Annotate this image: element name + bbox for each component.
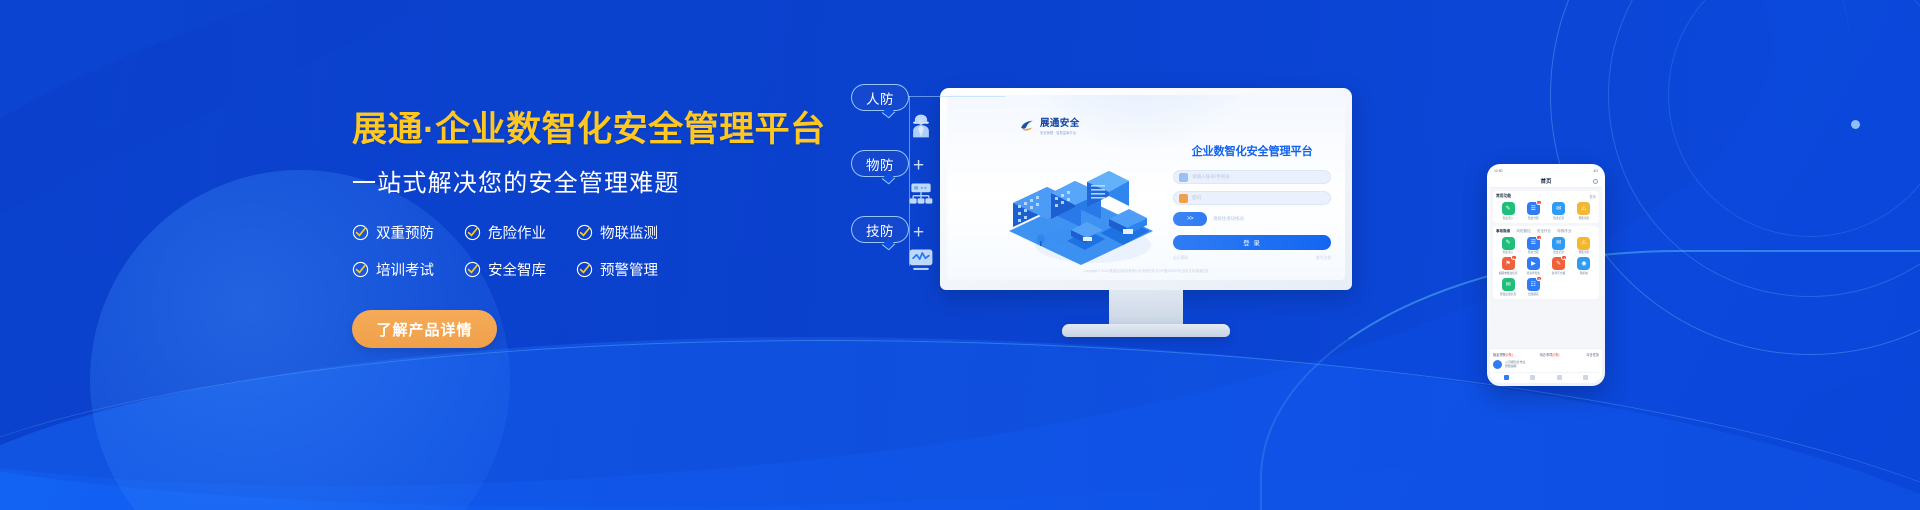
learn-more-button[interactable]: 了解产品详情 <box>352 310 497 348</box>
list-item-sub: 预警提醒 <box>1505 364 1517 368</box>
tab-messages[interactable] <box>1557 375 1562 380</box>
defense-label-wufang[interactable]: 物防 <box>851 150 909 177</box>
equipment-network-icon <box>907 180 935 208</box>
stats-row: 隐患预警(0条) 待办事项(0条) 今日任务 <box>1493 352 1599 357</box>
platform-logo-icon <box>1019 117 1036 134</box>
status-time: 12:50 <box>1494 169 1503 173</box>
app-label: 隐患分配 <box>1528 217 1539 220</box>
mail-icon[interactable]: ✉ <box>1552 237 1565 250</box>
feature-item: 危险作业 <box>464 222 576 243</box>
tab-home[interactable] <box>1504 375 1509 380</box>
badge: 2 <box>1561 255 1567 260</box>
feature-item: 预警管理 <box>576 259 688 280</box>
warning-icon[interactable]: ⚠ <box>1577 202 1590 215</box>
app-item[interactable]: ✉ 隐患记录 <box>1547 202 1571 220</box>
app-label: 待复查隐患 <box>1527 272 1540 275</box>
assign-icon[interactable]: ☰1 <box>1527 202 1540 215</box>
phone-screen: 12:50 4G 首页 常用功能 更多 ✎ 隐患录入 ☰1 <box>1490 167 1602 383</box>
section-title: 常用功能 <box>1496 194 1511 199</box>
hero-copy: 展通·企业数智化安全管理平台 一站式解决您的安全管理难题 双重预防 危险作业 <box>352 110 822 348</box>
stat-item: 今日任务 <box>1586 352 1599 357</box>
check-circle-icon <box>576 261 593 278</box>
app-item[interactable]: ⚠ 预警消息 <box>1572 237 1596 255</box>
feature-item: 物联监测 <box>576 222 688 243</box>
decorative-dot <box>1851 120 1860 129</box>
status-network: 4G <box>1593 169 1598 173</box>
monitoring-wave-icon <box>907 246 935 274</box>
reject-icon[interactable]: ✎2 <box>1552 257 1565 270</box>
badge: 9 <box>1536 276 1542 281</box>
platform-logo-text: 展通安全 <box>1040 115 1080 129</box>
username-placeholder: 请输入账号/手机号 <box>1192 174 1230 180</box>
phone-title: 首页 <box>1541 177 1552 185</box>
report-icon[interactable]: ☷9 <box>1527 278 1540 291</box>
forgot-password-link[interactable]: 忘记密码 <box>1173 256 1188 261</box>
defense-stack: 人防 物防 技防 + + <box>845 76 965 296</box>
tab-profile[interactable] <box>1583 375 1588 380</box>
monitor-stand-neck <box>1109 290 1183 324</box>
register-link[interactable]: 账号注册 <box>1316 256 1331 261</box>
feature-label: 物联监测 <box>600 222 658 243</box>
password-placeholder: 密码 <box>1192 195 1201 201</box>
app-label: 预警消息 <box>1579 217 1590 220</box>
review-icon[interactable]: ▶ <box>1527 257 1540 270</box>
feature-item: 安全智库 <box>464 259 576 280</box>
app-label: 预警消息 <box>1579 251 1590 254</box>
phone-section-hazards: 事故隐患 风险管控 安全作业 特殊作业 ✎ 隐患录入 ☰1 隐患分配 ✉ <box>1493 226 1599 299</box>
lock-icon <box>1179 194 1188 203</box>
section-tabs[interactable]: 事故隐患 风险管控 安全作业 特殊作业 <box>1496 229 1596 234</box>
tab[interactable]: 特殊作业 <box>1557 229 1571 234</box>
stat-label: 待办事项 <box>1540 353 1553 357</box>
app-item[interactable]: ✉ 整改反馈信息 <box>1496 278 1520 296</box>
app-label: 隐患记录 <box>1553 251 1564 254</box>
stat-label: 隐患预警 <box>1493 353 1506 357</box>
app-label: 台账报表 <box>1528 293 1539 296</box>
section-header: 常用功能 更多 <box>1496 194 1596 199</box>
monitor-screen: 展通安全 安全管理 · 智慧监管平台 <box>947 95 1345 280</box>
phone-section-common: 常用功能 更多 ✎ 隐患录入 ☰1 隐患分配 ✉ 隐患记录 <box>1493 191 1599 223</box>
mobile-phone-mockup: 12:50 4G 首页 常用功能 更多 ✎ 隐患录入 ☰1 <box>1487 164 1605 386</box>
badge: 1 <box>1511 255 1517 260</box>
alert-box-icon[interactable]: ⚑1 <box>1502 257 1515 270</box>
section-more-link[interactable]: 更多 <box>1589 194 1596 199</box>
app-item[interactable]: ☰1 隐患分配 <box>1521 202 1545 220</box>
tab-active[interactable]: 事故隐患 <box>1496 229 1510 234</box>
defense-label-jifang[interactable]: 技防 <box>851 216 909 243</box>
plus-operator: + <box>913 156 924 175</box>
login-title: 企业数智化安全管理平台 <box>1173 143 1331 159</box>
login-footer-links: 忘记密码 账号注册 <box>1173 256 1331 261</box>
captcha-row[interactable]: >> 请按住滑块拖动 <box>1173 212 1331 226</box>
check-circle-icon <box>464 224 481 241</box>
login-submit-button[interactable]: 登 录 <box>1173 235 1331 250</box>
app-item[interactable]: ☰1 隐患分配 <box>1521 237 1545 255</box>
page-title: 展通·企业数智化安全管理平台 <box>352 110 822 149</box>
app-label: 隐患记录 <box>1553 217 1564 220</box>
app-item[interactable]: ▶ 待复查隐患 <box>1521 257 1545 275</box>
app-item[interactable]: ⚑1 超期未整改信息 <box>1496 257 1520 275</box>
platform-logo: 展通安全 安全管理 · 智慧监管平台 <box>1019 115 1080 135</box>
check-circle-icon <box>464 261 481 278</box>
app-grid: ✎ 隐患录入 ☰1 隐患分配 ✉ 隐患记录 ⚠ 预警消息 <box>1496 202 1596 220</box>
app-item[interactable]: ✎ 隐患录入 <box>1496 202 1520 220</box>
phone-status-bar: 12:50 4G <box>1490 167 1602 175</box>
tab[interactable]: 风险管控 <box>1516 229 1530 234</box>
stat-value: (0条) <box>1552 353 1559 357</box>
feature-label: 培训考试 <box>376 259 434 280</box>
app-label: 复查不合格 <box>1552 272 1565 275</box>
isometric-factory-illustration <box>989 157 1169 269</box>
defense-label-renfang[interactable]: 人防 <box>851 84 909 111</box>
badge: 1 <box>1536 235 1542 240</box>
phone-bottom-panel: 隐患预警(0条) 待办事项(0条) 今日任务 公司级隐患作业 预警提醒 <box>1490 348 1602 383</box>
mail-icon[interactable]: ✉ <box>1552 202 1565 215</box>
app-grid: ✎ 隐患录入 ☰1 隐患分配 ✉ 隐患记录 ⚠ 预警消息 <box>1496 237 1596 296</box>
app-item[interactable]: ✎ 隐患录入 <box>1496 237 1520 255</box>
camera-icon[interactable]: ◉ <box>1577 257 1590 270</box>
monitor-bezel: 展通安全 安全管理 · 智慧监管平台 <box>940 88 1352 290</box>
badge: 1 <box>1536 200 1542 205</box>
feature-label: 危险作业 <box>488 222 546 243</box>
feature-list: 双重预防 危险作业 物联监测 <box>352 222 822 280</box>
check-circle-icon <box>352 224 369 241</box>
feature-label: 双重预防 <box>376 222 434 243</box>
stat-value: (0条) <box>1506 353 1513 357</box>
app-item[interactable]: ✉ 隐患记录 <box>1547 237 1571 255</box>
captcha-hint: 请按住滑块拖动 <box>1213 216 1244 222</box>
app-label: 超期未整改信息 <box>1499 272 1518 275</box>
feedback-icon[interactable]: ✉ <box>1502 278 1515 291</box>
edit-icon[interactable]: ✎ <box>1502 202 1515 215</box>
hero-banner: 展通·企业数智化安全管理平台 一站式解决您的安全管理难题 双重预防 危险作业 <box>0 0 1920 510</box>
feature-label: 预警管理 <box>600 259 658 280</box>
feature-label: 安全智库 <box>488 259 546 280</box>
plus-operator: + <box>913 223 924 242</box>
stat-item: 待办事项(0条) <box>1540 352 1560 357</box>
monitor-stand-base <box>1062 324 1230 337</box>
app-item[interactable]: ◉ 随手拍 <box>1572 257 1596 275</box>
user-icon <box>1179 173 1188 182</box>
check-circle-icon <box>352 261 369 278</box>
feature-item: 双重预防 <box>352 222 464 243</box>
app-item[interactable]: ☷9 台账报表 <box>1521 278 1545 296</box>
feature-item: 培训考试 <box>352 259 464 280</box>
check-circle-icon <box>576 224 593 241</box>
tab[interactable]: 安全作业 <box>1537 229 1551 234</box>
phone-title-bar: 首页 <box>1490 175 1602 188</box>
phone-tab-bar[interactable] <box>1493 372 1599 380</box>
app-label: 隐患分配 <box>1528 251 1539 254</box>
platform-logo-subtext: 安全管理 · 智慧监管平台 <box>1040 130 1080 135</box>
avatar <box>1493 360 1502 369</box>
list-item[interactable]: 公司级隐患作业 预警提醒 <box>1493 360 1599 369</box>
assign-icon[interactable]: ☰1 <box>1527 237 1540 250</box>
username-field[interactable]: 请输入账号/手机号 <box>1173 170 1331 184</box>
login-panel: 企业数智化安全管理平台 请输入账号/手机号 密码 >> 请按住滑块拖动 登 录 <box>1173 143 1331 261</box>
captcha-slider-handle[interactable]: >> <box>1173 212 1207 226</box>
connector-line-horizontal <box>909 96 1005 97</box>
stat-label: 今日任务 <box>1586 353 1599 357</box>
password-field[interactable]: 密码 <box>1173 191 1331 205</box>
gear-icon[interactable] <box>1593 179 1598 184</box>
edit-icon[interactable]: ✎ <box>1502 237 1515 250</box>
stat-item: 隐患预警(0条) <box>1493 352 1513 357</box>
app-item[interactable]: ✎2 复查不合格 <box>1547 257 1571 275</box>
app-label: 随手拍 <box>1580 272 1588 275</box>
app-label: 整改反馈信息 <box>1500 293 1516 296</box>
tab-workbench[interactable] <box>1530 375 1535 380</box>
warning-icon[interactable]: ⚠ <box>1577 237 1590 250</box>
screen-footer-note: Copyright © 2023 展通信息科技有限公司 版权所有 苏ICP备00… <box>947 269 1345 274</box>
desktop-monitor-mockup: 展通安全 安全管理 · 智慧监管平台 <box>940 88 1352 337</box>
app-label: 隐患录入 <box>1503 217 1514 220</box>
worker-helmet-icon <box>907 112 935 140</box>
app-item[interactable]: ⚠ 预警消息 <box>1572 202 1596 220</box>
app-label: 隐患录入 <box>1503 251 1514 254</box>
page-subtitle: 一站式解决您的安全管理难题 <box>352 163 822 198</box>
